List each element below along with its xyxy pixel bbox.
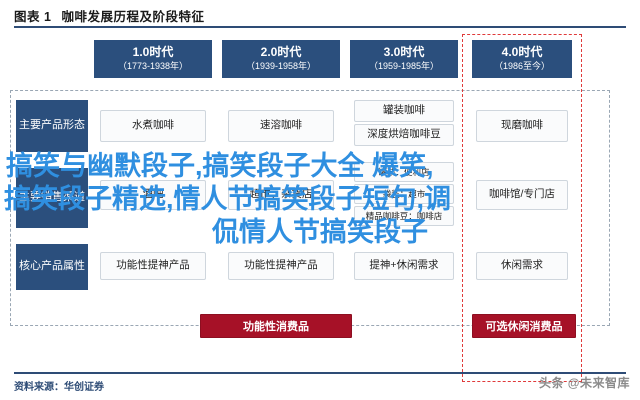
era-years-1: （1773-1938年）	[118, 61, 188, 72]
cell-channel-2: 超市、杂货店	[228, 180, 334, 210]
source-note: 资料来源：华创证券	[14, 378, 104, 393]
era-header-3: 3.0时代 （1959-1985年）	[350, 40, 458, 78]
cell-product-form-1: 水煮咖啡	[100, 110, 206, 142]
row-label-attribute: 核心产品属性	[16, 244, 88, 290]
era-years-2: （1939-1958年）	[246, 61, 316, 72]
watermark: 头条 @未来智库	[539, 374, 630, 391]
conclusion-box-functional: 功能性消费品	[200, 314, 352, 338]
era-header-1: 1.0时代 （1773-1938年）	[94, 40, 212, 78]
figure-title-row: 图表 1 咖啡发展历程及阶段特征	[14, 6, 626, 25]
era-name-2: 2.0时代	[261, 46, 302, 59]
cell-attribute-2: 功能性提神产品	[228, 252, 334, 280]
cell-channel-3c: 精品咖啡豆：咖啡店	[354, 206, 454, 226]
chart-body: 1.0时代 （1773-1938年） 2.0时代 （1939-1958年） 3.…	[10, 36, 630, 356]
cell-attribute-1: 功能性提神产品	[100, 252, 206, 280]
cell-attribute-3: 提神+休闲需求	[354, 252, 454, 280]
era-name-3: 3.0时代	[384, 46, 425, 59]
page-title: 咖啡发展历程及阶段特征	[61, 6, 204, 25]
figure-container: 图表 1 咖啡发展历程及阶段特征 1.0时代 （1773-1938年） 2.0时…	[0, 0, 640, 400]
row-label-channel: 主要销售渠道	[16, 168, 88, 228]
cell-product-form-3b: 深度烘焙咖啡豆	[354, 124, 454, 146]
cell-channel-3a: 罐装：便利店	[354, 162, 454, 182]
row-label-product-form: 主要产品形态	[16, 100, 88, 152]
cell-product-form-3a: 罐装咖啡	[354, 100, 454, 122]
highlight-4-0-era	[462, 34, 582, 382]
cell-product-form-2: 速溶咖啡	[228, 110, 334, 142]
cell-channel-3b: 袋装：超市	[354, 184, 454, 204]
era-name-1: 1.0时代	[133, 46, 174, 59]
footer-divider	[14, 372, 626, 374]
title-divider	[14, 26, 626, 28]
era-header-2: 2.0时代 （1939-1958年）	[222, 40, 340, 78]
era-years-3: （1959-1985年）	[369, 61, 439, 72]
cell-channel-1: 酒吧	[100, 180, 206, 210]
figure-label: 图表 1	[14, 6, 51, 25]
